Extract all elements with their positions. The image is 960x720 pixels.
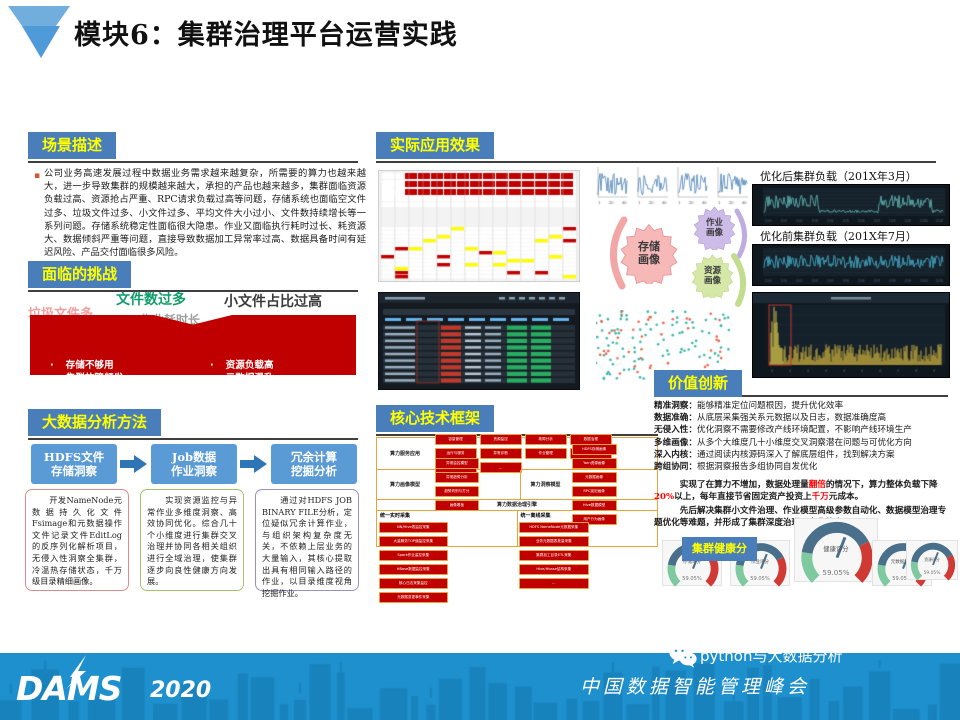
value-point-key: 数据准确： bbox=[654, 413, 697, 423]
framework-cell[interactable]: 异常趋势分析 bbox=[435, 472, 480, 483]
arrow-2-stem bbox=[240, 460, 254, 468]
framework-row-model: 算力画像模型异常监控模型异常趋势分析趋势判别与打分画像看板算力洞察模型HDFS存… bbox=[377, 470, 657, 499]
section-scene-header: 场景描述 bbox=[28, 132, 358, 163]
page-title: 模块6：集群治理平台运营实践 bbox=[74, 13, 914, 52]
framework-cell[interactable]: HDFS存储画像 bbox=[572, 444, 617, 455]
framework-cell[interactable]: 趋势判别与打分 bbox=[435, 486, 480, 497]
flow-step-1-line1: HDFS文件 bbox=[44, 450, 104, 464]
banner-item-label: 资源负载高 bbox=[226, 359, 274, 372]
value-point-3: 多维画像：从多个大维度几十小维度交叉洞察潜在问题与可优化方向 bbox=[654, 437, 950, 449]
framework-cell[interactable]: HBase数据监控采集 bbox=[379, 564, 449, 575]
section-framework-header: 核心技术框架 bbox=[376, 405, 658, 436]
arrow-1-stem bbox=[120, 460, 134, 468]
gauge-value: 59.05% bbox=[795, 568, 877, 577]
framework-cell[interactable]: HDFS NameNode元数据采集 bbox=[519, 522, 589, 533]
gear-storage-swoosh-icon bbox=[602, 216, 628, 290]
banner-item-label: 存储不够用 bbox=[66, 359, 114, 372]
scene-paragraph: ▪ 公司业务高速发展过程中数据业务需求越来越复杂，所需要的算力也越来越大，进一步… bbox=[34, 167, 366, 259]
bullet-icon: · bbox=[50, 372, 54, 385]
flow-step-1[interactable]: HDFS文件 存储洞察 bbox=[31, 444, 117, 484]
flow-step-2-line2: 作业洞察 bbox=[171, 464, 217, 478]
framework-cell[interactable]: 核心日志采集监控 bbox=[379, 578, 449, 589]
framework-offline-collect: 统一离线采集HDFS NameNode元数据采集业务元数据表批量采集集群加工目录… bbox=[518, 511, 658, 546]
divider bbox=[28, 438, 358, 440]
section-scene-title: 场景描述 bbox=[28, 132, 116, 159]
section-method-header: 大数据分析方法 bbox=[28, 409, 358, 440]
banner-item: ·集群故障频发 bbox=[36, 372, 196, 385]
framework-insight-cells: HDFS存储画像Yarn资源画像元数据画像RPC延迟画像Hive数据模型用户行为… bbox=[570, 470, 657, 498]
dams-lightning-icon bbox=[62, 655, 92, 689]
gear-resource-swoosh-icon bbox=[730, 252, 754, 308]
gauge-label: 资源评分 bbox=[907, 557, 957, 563]
cloud-word-2: 小文件占比过高 bbox=[224, 291, 322, 311]
gauge-2: 健康评分59.05% bbox=[794, 518, 878, 582]
dashboard-screenshot bbox=[378, 292, 580, 390]
chart-after-optimization bbox=[752, 184, 950, 226]
framework-cell[interactable]: 元数据变更事件采集 bbox=[379, 592, 449, 603]
skyline-graphic bbox=[0, 660, 960, 720]
chart-before-optimization bbox=[752, 244, 950, 286]
dams-year: 2020 bbox=[150, 678, 211, 703]
value-point-4: 深入内核：通过阅读内核源码深入了解底层组件，找到解决方案 bbox=[654, 449, 950, 461]
framework-realtime-collect: 统一实时采集NN/Hive表监控采集大量服务TOP值监控采集Spark作业监控采… bbox=[377, 511, 518, 546]
gauge-value: 59.05% bbox=[663, 576, 721, 582]
framework-cell[interactable]: Spark作业监控采集 bbox=[379, 550, 449, 561]
framework-cell[interactable]: NN/Hive表监控采集 bbox=[379, 522, 449, 533]
bullet-icon: · bbox=[210, 372, 214, 385]
framework-model-cells: 异常监控模型异常趋势分析趋势判别与打分画像看板 bbox=[433, 470, 520, 498]
framework-engine-label: 算力数据治理引擎 bbox=[377, 501, 657, 508]
summary1-mid2: 以上，每年直接节省固定资产投资上 bbox=[674, 492, 812, 502]
framework-row-label: 算力洞察模型 bbox=[520, 470, 570, 498]
triangle-logo-icon bbox=[8, 6, 70, 66]
framework-cell[interactable]: 资源监控 bbox=[480, 434, 522, 445]
framework-cell[interactable]: 异常监控模型 bbox=[435, 458, 480, 469]
value-point-key: 多维画像： bbox=[654, 438, 697, 448]
cloud-word-1: 文件数过多 bbox=[116, 289, 186, 309]
gauge-4: 资源评分59.05% bbox=[906, 540, 958, 580]
section-challenges-header: 面临的挑战 bbox=[28, 261, 358, 292]
slide-root: 模块6：集群治理平台运营实践 场景描述 ▪ 公司业务高速发展过程中数据业务需求越… bbox=[0, 0, 960, 720]
banner-item-label: 元数据混乱 bbox=[226, 372, 274, 385]
framework-cell[interactable]: Yarn资源画像 bbox=[572, 458, 617, 469]
section-challenges-title: 面临的挑战 bbox=[28, 261, 131, 288]
value-point-text: 从多个大维度几十小维度交叉洞察潜在问题与可优化方向 bbox=[697, 438, 912, 448]
value-point-0: 精准洞察：能够精准定位问题根因，提升优化效率 bbox=[654, 400, 950, 412]
challenge-banner-list: ·存储不够用·资源负载高·集群故障频发·元数据混乱 bbox=[36, 359, 356, 385]
summit-name: 中国数据智能管理峰会 bbox=[580, 672, 810, 699]
flow-step-3[interactable]: 冗余计算 挖掘分析 bbox=[271, 444, 357, 484]
tech-framework-diagram: 算力服务应用容量管理资源监控故障分析数据治理运行与服务异常诊断作业管理成本核算标… bbox=[376, 437, 658, 547]
flow-step-3-line2: 挖掘分析 bbox=[291, 464, 337, 478]
banner-item: ·存储不够用 bbox=[36, 359, 196, 372]
section-value-header: 价值创新 bbox=[654, 370, 774, 397]
method-note-3: 通过对HDFS JOB BINARY FILE分析，定位疑似冗余计算作业，与组织… bbox=[255, 489, 359, 591]
framework-row-label: 算力画像模型 bbox=[377, 470, 433, 498]
value-point-text: 从底层采集强关系元数据以及日志，数据准确度高 bbox=[697, 413, 886, 423]
gear-job-portrait: 作业 画像 bbox=[692, 205, 737, 250]
banner-row: ·存储不够用·资源负载高 bbox=[36, 359, 356, 372]
framework-cell[interactable]: 故障分析 bbox=[525, 434, 567, 445]
value-point-key: 无侵入性： bbox=[654, 425, 697, 435]
gauge-value: 59.05% bbox=[731, 576, 789, 582]
banner-item: ·资源负载高 bbox=[196, 359, 356, 372]
value-point-text: 优化洞察不需要修改产线环境配置，不影响产线环境生产 bbox=[697, 425, 912, 435]
method-note-2: 实现资源监控与异常作业多维度洞察、高效协同优化。综合几十个小维度进行集群交叉治理… bbox=[140, 489, 244, 591]
section-effect-header: 实际应用效果 bbox=[376, 132, 936, 163]
framework-row-label: 算力服务应用 bbox=[377, 438, 433, 469]
bullet-icon: · bbox=[210, 359, 214, 372]
flow-step-2-line1: Job数据 bbox=[171, 450, 217, 464]
value-points-list: 精准洞察：能够精准定位问题根因，提升优化效率数据准确：从底层采集强关系元数据以及… bbox=[654, 400, 950, 473]
framework-cell[interactable]: Hive/Hbase结构采集 bbox=[519, 564, 589, 575]
chart-caption-after: 优化后集群负载（201X年3月） bbox=[760, 168, 917, 184]
divider bbox=[376, 161, 936, 163]
bullet-icon: · bbox=[50, 359, 54, 372]
section-value-title: 价值创新 bbox=[654, 370, 742, 397]
gear-resource-line1: 资源 bbox=[704, 266, 721, 276]
gear-job-line1: 作业 bbox=[706, 218, 723, 228]
flow-step-2[interactable]: Job数据 作业洞察 bbox=[151, 444, 237, 484]
bullet-icon: ▪ bbox=[34, 170, 40, 183]
section-framework-title: 核心技术框架 bbox=[376, 405, 494, 432]
chart-spectrum bbox=[752, 292, 950, 378]
gear-resource-portrait: 资源 画像 bbox=[690, 253, 735, 298]
framework-cell[interactable]: 业务元数据表批量采集 bbox=[519, 536, 589, 547]
summary1-hot3: 千万 bbox=[812, 492, 829, 502]
health-score-tab: 集群健康分 bbox=[682, 537, 757, 561]
gear-storage-line1: 存储 bbox=[638, 240, 660, 253]
framework-offline-cells: HDFS NameNode元数据采集业务元数据表批量采集集群加工目录ETL采集H… bbox=[518, 520, 658, 590]
gauge-label: 健康评分 bbox=[795, 544, 877, 553]
method-note-1: 开发NameNode元数据持久化文件Fsimage和元数据操作文件记录文件Edi… bbox=[25, 489, 129, 591]
arrow-right-icon-2 bbox=[254, 455, 267, 473]
framework-cell[interactable]: 大量服务TOP值监控采集 bbox=[379, 536, 449, 547]
wechat-account: python与大数据分析 bbox=[700, 645, 842, 666]
value-point-1: 数据准确：从底层采集强关系元数据以及日志，数据准确度高 bbox=[654, 412, 950, 424]
section-method-title: 大数据分析方法 bbox=[28, 409, 161, 436]
wechat-icon bbox=[668, 643, 698, 669]
framework-row-collect: 统一实时采集NN/Hive表监控采集大量服务TOP值监控采集Spark作业监控采… bbox=[377, 511, 657, 546]
divider bbox=[28, 161, 358, 163]
value-point-key: 跨组协同： bbox=[654, 462, 697, 472]
summary1-hot1: 翻倍 bbox=[809, 480, 826, 490]
banner-item-label: 集群故障频发 bbox=[66, 372, 124, 385]
arrow-right-icon-1 bbox=[134, 455, 147, 473]
value-summary-1: 实现了在算力不增加，数据处理量翻倍的情况下，算力整体负载下降20%以上，每年直接… bbox=[654, 479, 950, 503]
summary1-pre: 实现了在算力不增加，数据处理量 bbox=[654, 480, 809, 490]
section-effect-title: 实际应用效果 bbox=[376, 132, 494, 159]
summary1-end: 元成本。 bbox=[829, 492, 863, 502]
banner-row: ·集群故障频发·元数据混乱 bbox=[36, 372, 356, 385]
flow-step-3-line1: 冗余计算 bbox=[291, 450, 337, 464]
framework-realtime-cells: NN/Hive表监控采集大量服务TOP值监控采集Spark作业监控采集HBase… bbox=[377, 520, 517, 604]
value-point-text: 能够精准定位问题根因，提升优化效率 bbox=[697, 401, 843, 411]
framework-cell[interactable]: 容量管理 bbox=[435, 434, 477, 445]
framework-collect-label: 统一实时采集 bbox=[377, 511, 517, 520]
chart-caption-before: 优化前集群负载（201X年7月） bbox=[760, 228, 917, 244]
value-point-key: 精准洞察： bbox=[654, 401, 697, 411]
flow-step-1-line2: 存储洞察 bbox=[44, 464, 104, 478]
value-point-5: 跨组协同：根据洞察报告多组协同自发优化 bbox=[654, 461, 950, 473]
gear-job-line2: 画像 bbox=[706, 228, 723, 238]
framework-cell[interactable]: … bbox=[519, 578, 589, 589]
framework-cell[interactable]: 作业管理 bbox=[525, 448, 567, 459]
value-point-key: 深入内核： bbox=[654, 450, 697, 460]
value-point-text: 通过阅读内核源码深入了解底层组件，找到解决方案 bbox=[697, 450, 895, 460]
framework-cell[interactable]: 异常诊断 bbox=[480, 448, 522, 459]
framework-collect-label: 统一离线采集 bbox=[518, 511, 658, 520]
framework-cell[interactable]: 元数据画像 bbox=[572, 472, 617, 483]
summary1-hot2: 20% bbox=[654, 492, 674, 502]
value-point-2: 无侵入性：优化洞察不需要修改产线环境配置，不影响产线环境生产 bbox=[654, 424, 950, 436]
banner-item: ·元数据混乱 bbox=[196, 372, 356, 385]
sparkline-row bbox=[592, 165, 752, 207]
framework-cell[interactable]: 集群加工目录ETL采集 bbox=[519, 550, 589, 561]
framework-cell[interactable]: RPC延迟画像 bbox=[572, 486, 617, 497]
gear-storage-line2: 画像 bbox=[638, 253, 660, 266]
spreadsheet-screenshot bbox=[378, 170, 580, 282]
value-point-text: 根据洞察报告多组协同自发优化 bbox=[697, 462, 817, 472]
gauge-value: 59.05% bbox=[907, 571, 957, 576]
summary1-mid: 的情况下，算力整体负载下降 bbox=[826, 480, 938, 490]
gear-resource-line2: 画像 bbox=[704, 276, 721, 286]
